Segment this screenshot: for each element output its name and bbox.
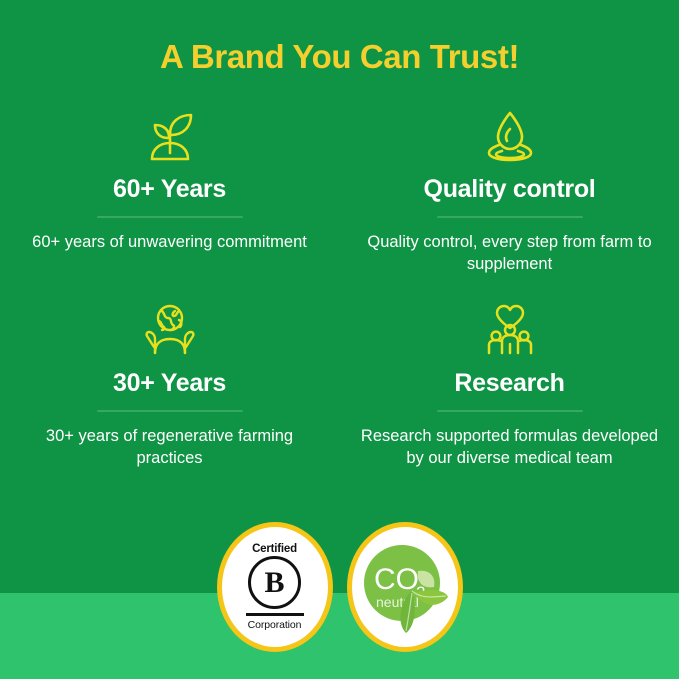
feature-card-30-years: 30+ Years 30+ years of regenerative farm… <box>0 298 339 469</box>
certification-badges: Certified B Corporation CO 2 neutral <box>0 522 679 652</box>
water-droplet-icon <box>340 104 679 168</box>
seedling-icon <box>0 104 339 168</box>
bcorp-certified-label: Certified <box>252 543 297 555</box>
page-title: A Brand You Can Trust! <box>0 38 679 76</box>
brand-trust-poster: A Brand You Can Trust! 60+ Years 60+ yea… <box>0 0 679 679</box>
heading-divider <box>437 216 583 218</box>
feature-description: Research supported formulas developed by… <box>340 425 679 470</box>
co2-neutral-badge: CO 2 neutral <box>347 522 463 652</box>
feature-description: 60+ years of unwavering commitment <box>0 231 339 253</box>
heart-people-icon <box>340 298 679 362</box>
bcorp-corporation-label: Corporation <box>248 619 302 631</box>
heading-divider <box>437 410 583 412</box>
feature-card-research: Research Research supported formulas dev… <box>340 298 679 469</box>
feature-description: 30+ years of regenerative farming practi… <box>0 425 339 470</box>
bcorp-b-letter: B <box>248 556 301 609</box>
feature-grid: 60+ Years 60+ years of unwavering commit… <box>0 104 679 514</box>
feature-heading: Quality control <box>340 176 679 204</box>
feature-heading: Research <box>340 370 679 398</box>
feature-card-60-years: 60+ Years 60+ years of unwavering commit… <box>0 104 339 253</box>
co2-neutral-graphic: CO 2 neutral <box>352 527 458 647</box>
certified-b-corporation-badge: Certified B Corporation <box>217 522 333 652</box>
bcorp-rule <box>246 613 304 616</box>
heading-divider <box>97 216 243 218</box>
feature-card-quality-control: Quality control Quality control, every s… <box>340 104 679 275</box>
feature-description: Quality control, every step from farm to… <box>340 231 679 276</box>
feature-heading: 30+ Years <box>0 370 339 398</box>
heading-divider <box>97 410 243 412</box>
hands-holding-globe-icon <box>0 298 339 362</box>
feature-heading: 60+ Years <box>0 176 339 204</box>
